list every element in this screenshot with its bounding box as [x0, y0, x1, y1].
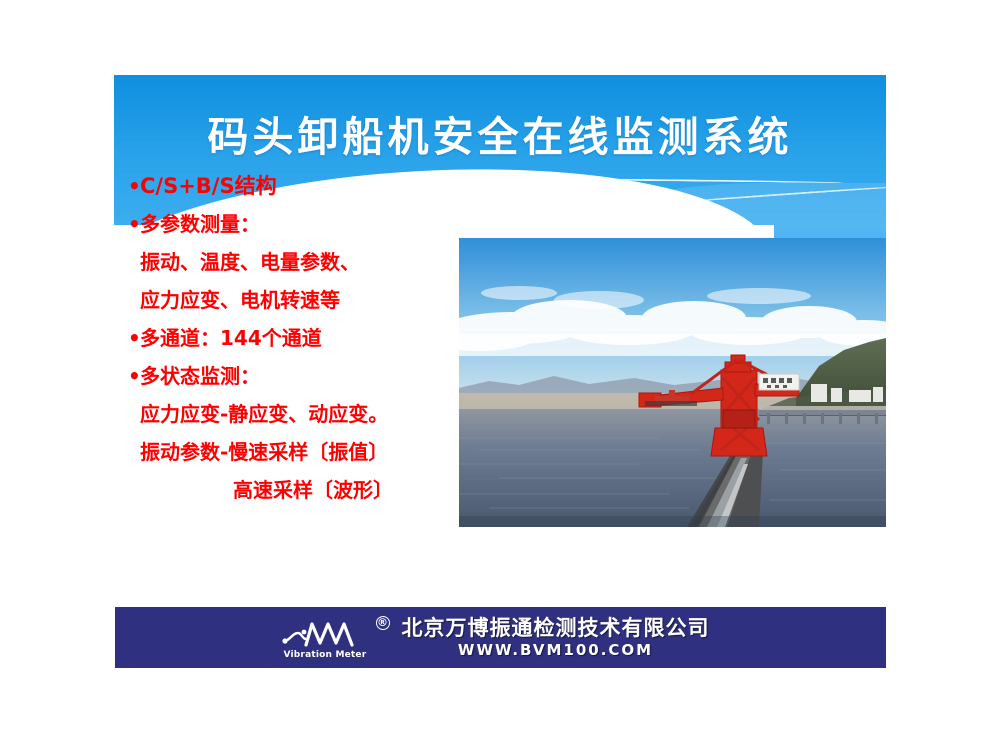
screenshot-root: 码头卸船机安全在线监测系统 C/S+B/S结构 多参数测量： 振动、温度、电量参… — [0, 0, 1000, 750]
registered-trademark-icon: ® — [376, 616, 390, 630]
list-item: 振动参数-慢速采样〔振值〕 — [128, 433, 478, 471]
footer-content: ® Vibration Meter 北京万博振通检测技术有限公司 WWW.BVM… — [280, 616, 710, 660]
bullet-list: C/S+B/S结构 多参数测量： 振动、温度、电量参数、 应力应变、电机转速等 … — [128, 167, 478, 509]
list-item: 高速采样〔波形〕 — [128, 471, 478, 509]
list-item: 多通道：144个通道 — [128, 319, 478, 357]
company-website: WWW.BVM100.COM — [458, 643, 653, 658]
company-name: 北京万博振通检测技术有限公司 — [402, 618, 710, 639]
page-title: 码头卸船机安全在线监测系统 — [114, 103, 886, 163]
ship-unloader-photo — [459, 238, 886, 527]
list-item: 应力应变、电机转速等 — [128, 281, 478, 319]
footer-text-block: 北京万博振通检测技术有限公司 WWW.BVM100.COM — [402, 618, 710, 658]
list-item: 多参数测量： — [128, 205, 478, 243]
photo-illustration — [459, 238, 886, 527]
logo-subtitle: Vibration Meter — [284, 650, 367, 660]
list-item: 振动、温度、电量参数、 — [128, 243, 478, 281]
list-item: 应力应变-静应变、动应变。 — [128, 395, 478, 433]
list-item: 多状态监测： — [128, 357, 478, 395]
vibration-meter-logo: ® Vibration Meter — [280, 616, 392, 660]
list-item: C/S+B/S结构 — [128, 167, 478, 205]
wave-logo-icon — [282, 619, 382, 653]
presentation-slide: 码头卸船机安全在线监测系统 C/S+B/S结构 多参数测量： 振动、温度、电量参… — [114, 75, 886, 668]
footer-bar: ® Vibration Meter 北京万博振通检测技术有限公司 WWW.BVM… — [115, 607, 886, 668]
